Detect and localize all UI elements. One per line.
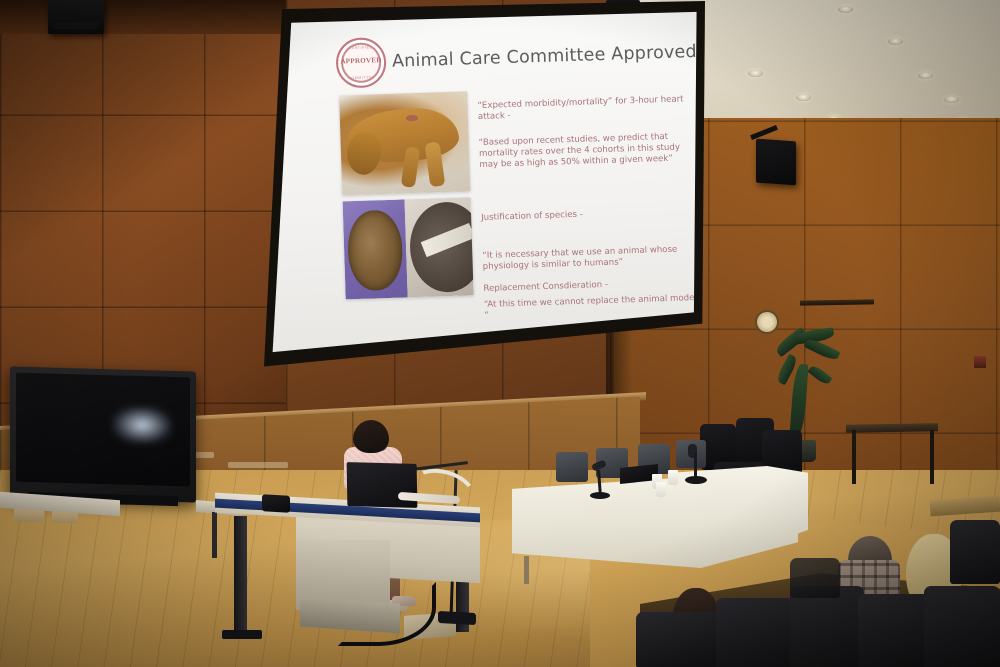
slide-text-block: “Based upon recent studies, we predict t… — [479, 131, 688, 171]
microphone-base — [590, 492, 610, 499]
loudspeaker-icon — [48, 0, 104, 34]
theater-seat — [924, 586, 1000, 667]
podium-monitor[interactable] — [347, 462, 418, 508]
downlight-icon — [944, 96, 959, 103]
wall-fixture — [228, 462, 288, 468]
theater-seat — [858, 594, 932, 667]
slide-text-block: Justification of species - — [481, 206, 689, 224]
side-table-leg — [852, 430, 856, 484]
approved-stamp-icon: CERTIFIED APPROVED COMMITTEE — [335, 37, 387, 89]
specimen-dish-photo — [343, 199, 408, 299]
presenter-hair — [353, 420, 389, 453]
theater-seat — [790, 586, 864, 667]
stamp-label: APPROVED — [338, 56, 384, 65]
folding-chair — [556, 452, 588, 482]
downlight-icon — [748, 70, 763, 77]
slide-text-block: “It is necessary that we use an animal w… — [482, 244, 693, 273]
theater-seat — [636, 612, 716, 667]
exit-sign — [974, 356, 986, 368]
dog-on-table-photo — [339, 91, 470, 195]
stool-leg — [212, 512, 217, 558]
wall-monitor[interactable] — [10, 366, 196, 502]
tissue-sample-photo — [405, 197, 474, 297]
slide-text-block: “Expected morbidity/mortality” for 3-hou… — [477, 94, 686, 123]
side-table-leg — [930, 430, 934, 484]
water-cup[interactable] — [656, 482, 666, 497]
table-leg — [524, 556, 529, 584]
theater-seat — [790, 558, 840, 598]
slide-text-block: Replacement Consdieration - — [483, 277, 693, 295]
palm-frond — [789, 364, 808, 439]
downlight-icon — [918, 72, 933, 79]
wall-upper-shadow — [0, 0, 300, 34]
slide-title: Animal Care Committee Approved — [392, 42, 697, 72]
side-table — [846, 423, 938, 433]
podium-remote[interactable] — [262, 494, 290, 512]
theater-seat — [716, 598, 794, 667]
stamp-top-text: CERTIFIED — [338, 45, 384, 50]
wall-monitor-screen — [16, 373, 190, 487]
auditorium-presentation-photo: CERTIFIED APPROVED COMMITTEE Animal Care… — [0, 0, 1000, 667]
palm-frond — [807, 364, 832, 387]
podium-microphone-base — [438, 611, 476, 625]
screen-glow-reflection — [112, 405, 172, 445]
podium-leg — [234, 516, 247, 636]
loudspeaker-icon — [756, 139, 796, 186]
specimen-photo-pair — [343, 197, 474, 299]
microphone-base — [685, 476, 707, 484]
theater-seat — [950, 520, 1000, 584]
stamp-bottom-text: COMMITTEE — [339, 75, 385, 80]
downlight-icon — [888, 38, 903, 45]
presentation-slide: CERTIFIED APPROVED COMMITTEE Animal Care… — [258, 1, 701, 363]
downlight-icon — [838, 6, 853, 13]
downlight-icon — [796, 94, 811, 101]
podium-foot — [222, 630, 262, 639]
water-cup[interactable] — [668, 470, 678, 485]
